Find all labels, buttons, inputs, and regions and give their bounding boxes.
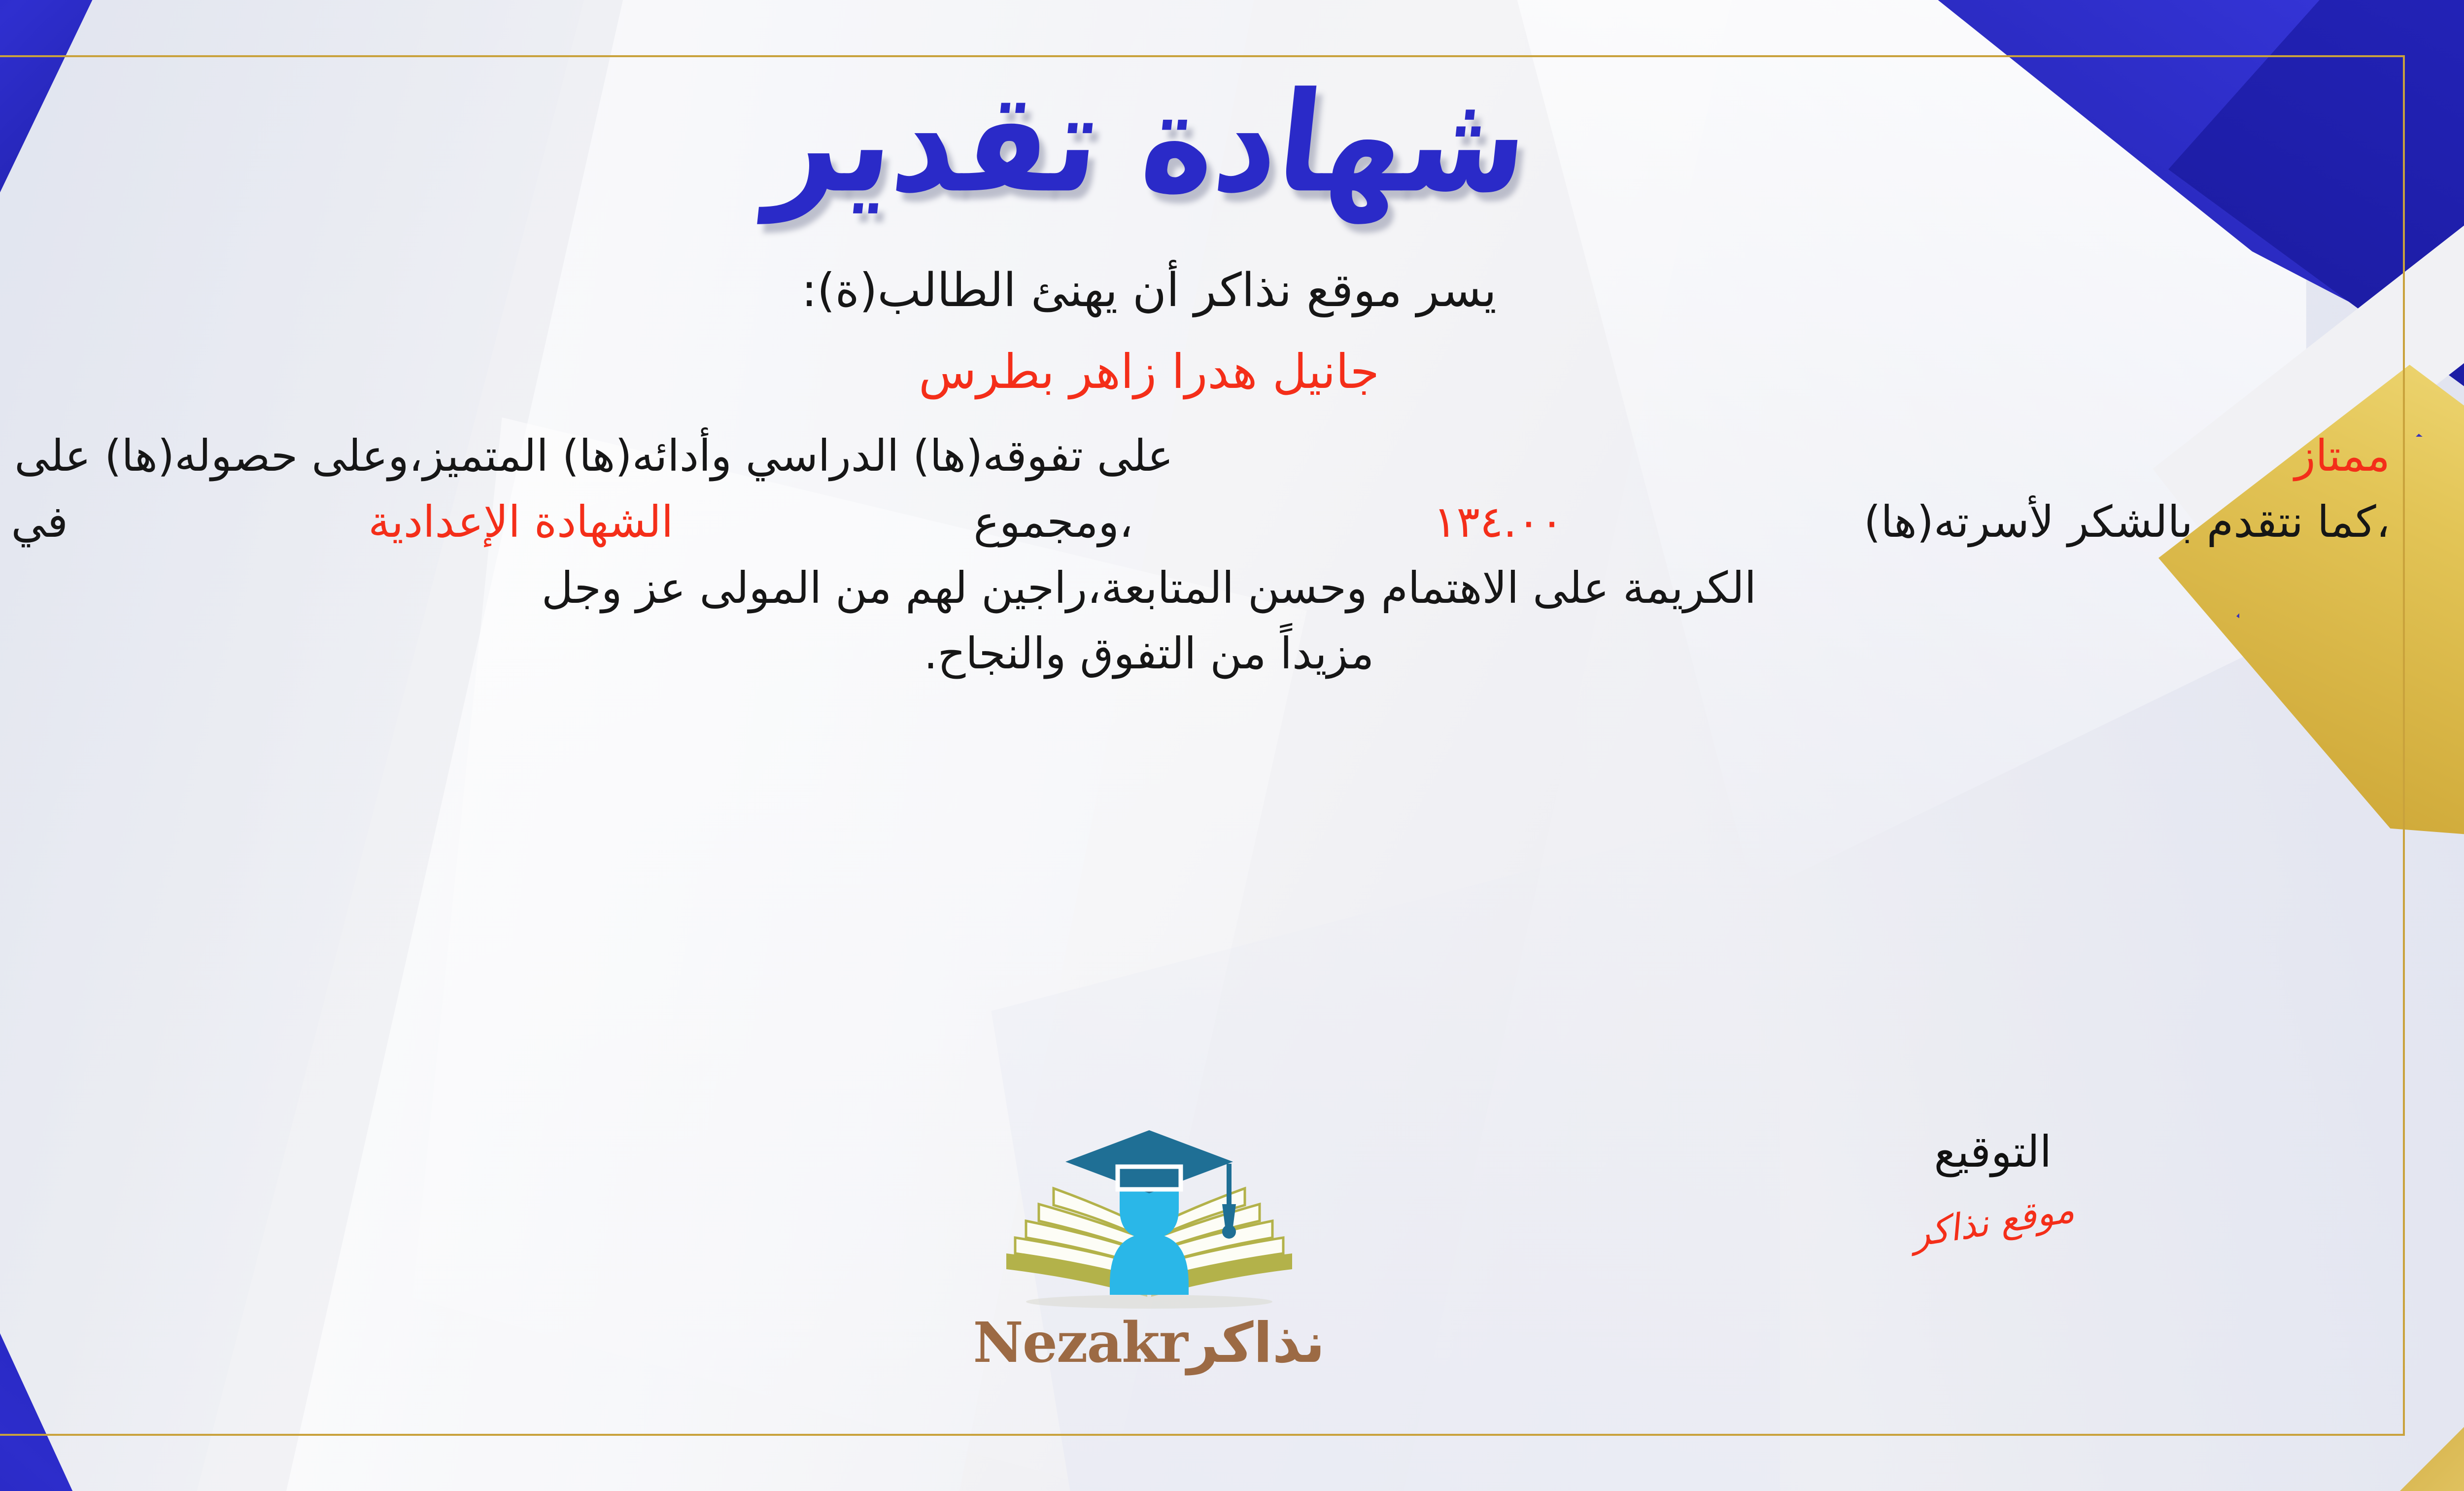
body-line-5: الكريمة على الاهتمام وحسن المتابعة،راجين… xyxy=(0,555,2390,621)
body-line-5-text: الكريمة على الاهتمام وحسن المتابعة،راجين… xyxy=(542,555,1756,621)
signature-mark: موقع نذاكر xyxy=(1909,1188,2077,1256)
body-line-6-text: مزيداً من التفوق والنجاح. xyxy=(924,621,1374,687)
intro-line: يسر موقع نذاكر أن يهنئ الطالب(ة): xyxy=(801,264,1496,317)
logo-name-latin: Nezakr xyxy=(973,1311,1187,1375)
body-line-4: ،كما نتقدم بالشكر لأسرته(ها) ١٣٤.٠٠ ،ومج… xyxy=(0,489,2390,555)
signature-block: التوقيع موقع نذاكر xyxy=(1911,1126,2075,1243)
body-paragraph: ممتاز على تفوقه(ها) الدراسي وأدائه(ها) ا… xyxy=(0,423,2390,687)
total-label: ،ومجموع xyxy=(974,489,1133,555)
logo-wordmark: نذاكرNezakr xyxy=(957,1311,1341,1375)
result-label: في نتيجة xyxy=(0,489,68,555)
body-line-3: ممتاز على تفوقه(ها) الدراسي وأدائه(ها) ا… xyxy=(0,423,2390,489)
certificate-page: شهادة تقدير يسر موقع نذاكر أن يهنئ الطال… xyxy=(0,0,2464,1491)
logo-name-arabic: نذاكر xyxy=(1187,1311,1325,1375)
certificate-footer: التوقيع موقع نذاكر xyxy=(0,1126,2390,1402)
certificate-title: شهادة تقدير xyxy=(763,72,1535,213)
body-line-6: مزيداً من التفوق والنجاح. xyxy=(0,621,2390,687)
student-name: جانيل هدرا زاهر بطرس xyxy=(919,344,1379,399)
brand-logo: نذاكرNezakr xyxy=(957,1121,1341,1375)
body-line-3-text: على تفوقه(ها) الدراسي وأدائه(ها) المتميز… xyxy=(0,423,1173,489)
total-score-value: ١٣٤.٠٠ xyxy=(1433,489,1563,555)
grade-value: ممتاز xyxy=(2294,423,2390,489)
exam-name: الشهادة الإعدادية xyxy=(368,489,673,555)
signature-label: التوقيع xyxy=(1911,1126,2075,1177)
graduate-book-logo-icon xyxy=(957,1121,1341,1314)
body-line-4-tail: ،كما نتقدم بالشكر لأسرته(ها) xyxy=(1864,489,2390,555)
